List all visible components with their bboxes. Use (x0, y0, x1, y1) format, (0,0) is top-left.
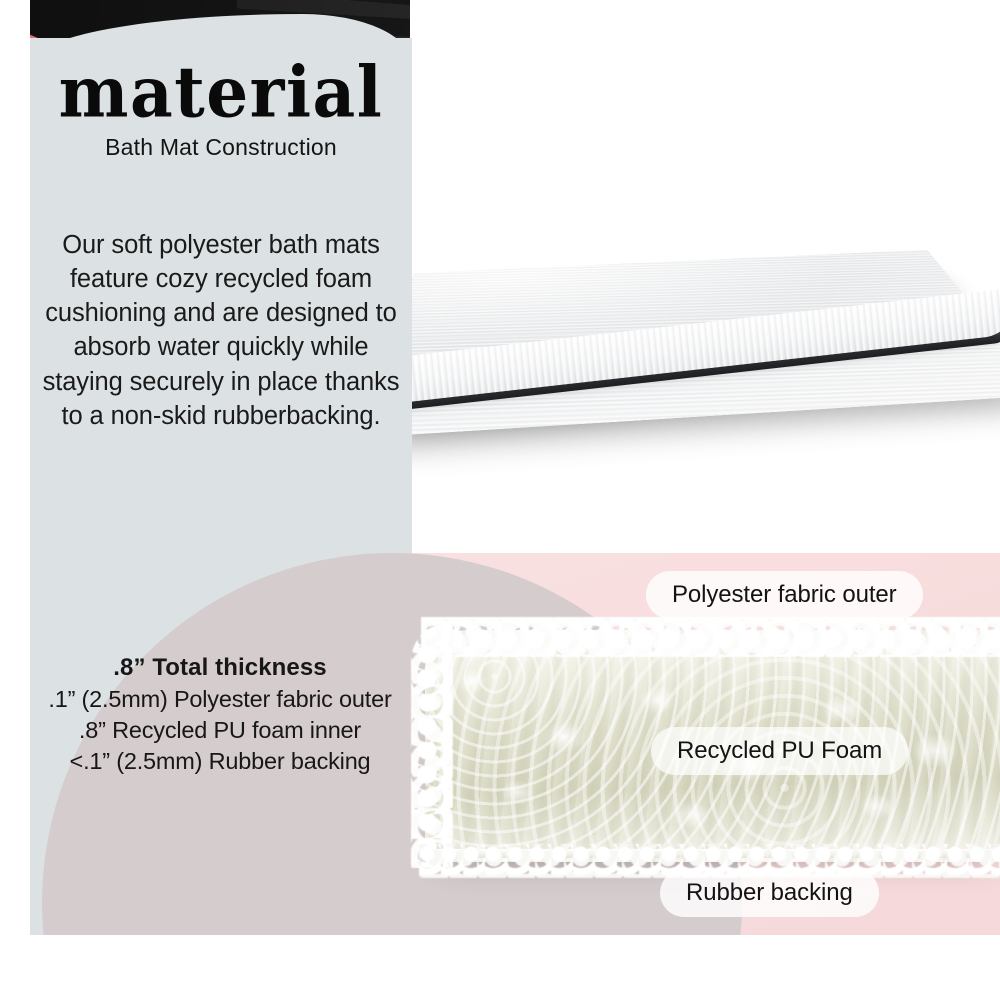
spec-list: .8” Total thickness .1” (2.5mm) Polyeste… (34, 654, 406, 777)
spec-line-rubber: <.1” (2.5mm) Rubber backing (34, 746, 406, 777)
callout-polyester-fabric-outer[interactable]: Polyester fabric outer (646, 571, 923, 619)
spec-line-foam: .8” Recycled PU foam inner (34, 715, 406, 746)
title-block: material Bath Mat Construction (30, 60, 412, 161)
bath-mat-photo-object (410, 86, 1000, 476)
product-photo (410, 0, 1000, 553)
infographic-canvas: material Bath Mat Construction Our soft … (0, 0, 1000, 1000)
page-subtitle: Bath Mat Construction (30, 134, 412, 161)
spec-total-thickness: .8” Total thickness (34, 654, 406, 682)
foam-top-fabric-fuzz (421, 617, 1000, 657)
brand-logo-icon[interactable] (906, 6, 984, 78)
callout-rubber-backing[interactable]: Rubber backing (660, 869, 879, 917)
body-copy: Our soft polyester bath mats feature coz… (36, 228, 406, 433)
page-title: material (30, 58, 412, 127)
callout-recycled-pu-foam[interactable]: Recycled PU Foam (651, 727, 908, 775)
left-white-margin (0, 0, 30, 1000)
callout-label: Recycled PU Foam (677, 737, 882, 765)
spec-line-fabric: .1” (2.5mm) Polyester fabric outer (34, 684, 406, 715)
callout-label: Polyester fabric outer (672, 581, 897, 609)
foam-left-fabric-fuzz (411, 622, 453, 868)
callout-label: Rubber backing (686, 879, 853, 907)
bottom-white-margin (0, 935, 1000, 1000)
